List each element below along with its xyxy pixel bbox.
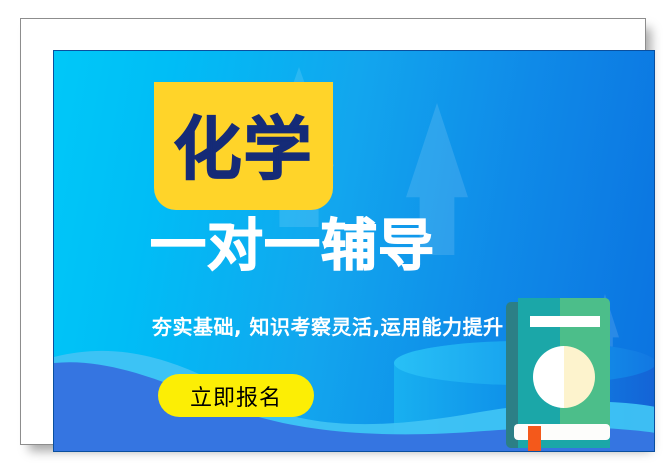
signup-button[interactable]: 立即报名 (158, 374, 314, 417)
poster-frame: 化学 一对一辅导 夯实基础, 知识考察灵活,运用能力提升 立即报名 中小学辅导班 (20, 18, 646, 445)
watermark-text: 中小学辅导班 (308, 447, 470, 452)
page-title: 一对一辅导 (150, 219, 435, 275)
screenshot-canvas: 化学 一对一辅导 夯实基础, 知识考察灵活,运用能力提升 立即报名 中小学辅导班 (0, 0, 664, 464)
book-title-band (530, 316, 600, 327)
poster-subtitle: 夯实基础, 知识考察灵活,运用能力提升 (152, 311, 504, 340)
subject-badge: 化学 (154, 82, 333, 210)
book-icon (506, 298, 610, 451)
signup-button-label: 立即报名 (190, 380, 282, 412)
promo-poster: 化学 一对一辅导 夯实基础, 知识考察灵活,运用能力提升 立即报名 中小学辅导班 (53, 50, 655, 452)
bookmark-icon (528, 426, 541, 452)
subject-badge-label: 化学 (173, 117, 313, 185)
